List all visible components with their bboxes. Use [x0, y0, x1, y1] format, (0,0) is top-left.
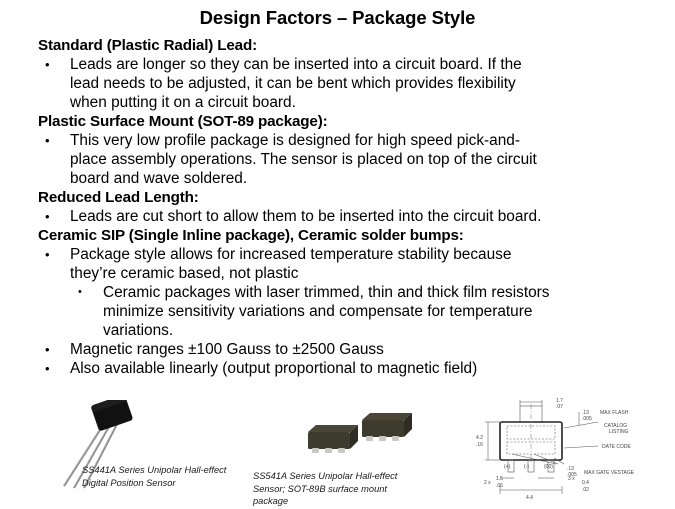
label-max-gate-vestage: MAX GATE VESTAGE: [584, 470, 635, 476]
bullet-marker-icon: •: [45, 340, 70, 359]
bullet-item: •Leads are cut short to allow them to be…: [0, 207, 675, 226]
pin-minus: (-): [524, 464, 529, 470]
dim-pitch-in: .06: [496, 483, 503, 489]
sub-bullet-text-continued: variations.: [0, 321, 675, 340]
bullet-text-continued: board and wave soldered.: [0, 169, 675, 188]
slide-body: Standard (Plastic Radial) Lead:•Leads ar…: [0, 36, 675, 378]
pin-out: (00): [544, 464, 553, 470]
page-title: Design Factors – Package Style: [0, 7, 675, 29]
dim-top-in: .07: [556, 404, 563, 410]
dim-left-in: .16: [476, 442, 483, 448]
vestage-in: .005: [567, 472, 577, 478]
section-heading: Ceramic SIP (Single Inline package), Cer…: [0, 226, 675, 245]
bullet-marker-icon: •: [45, 207, 70, 226]
sot89-package-dimension-drawing: 1.7 .07 4.2 .16 4.4 2 x 1.5 .06 3 x 0.4 …: [472, 398, 672, 504]
bullet-item: •Leads are longer so they can be inserte…: [0, 55, 675, 74]
flash-in: .005: [582, 416, 592, 422]
bullet-text: This very low profile package is designe…: [70, 131, 520, 150]
bullet-text-continued: they’re ceramic based, not plastic: [0, 264, 675, 283]
figure-strip: SS441A Series Unipolar Hall-effect Digit…: [0, 398, 675, 506]
dim-bottom-mm: 4.4: [526, 495, 533, 501]
bullet-text-continued: place assembly operations. The sensor is…: [0, 150, 675, 169]
to92-figure-caption: SS441A Series Unipolar Hall-effect Digit…: [82, 464, 232, 489]
dim-pitch-right-mm: 0.4: [582, 480, 589, 486]
sot89b-surface-mount-sensor-photo: [296, 410, 416, 466]
bullet-marker-icon: •: [45, 131, 70, 150]
label-listing: LISTING: [609, 429, 629, 435]
bullet-item: •Magnetic ranges ±100 Gauss to ±2500 Gau…: [0, 340, 675, 359]
label-date-code: DATE CODE: [602, 444, 631, 450]
dim-pitch-mm: 1.5: [496, 476, 503, 482]
bullet-text: Also available linearly (output proporti…: [70, 359, 477, 378]
sub-bullet-item: •Ceramic packages with laser trimmed, th…: [0, 283, 675, 302]
bullet-item: •Package style allows for increased temp…: [0, 245, 675, 264]
bullet-text: Leads are longer so they can be inserted…: [70, 55, 522, 74]
bullet-text: Ceramic packages with laser trimmed, thi…: [103, 284, 549, 301]
bullet-marker-icon: •: [45, 245, 70, 264]
bullet-marker-icon: •: [45, 359, 70, 378]
dim-pitch-left: 2 x: [484, 480, 491, 486]
bullet-item: •This very low profile package is design…: [0, 131, 675, 150]
bullet-marker-icon: •: [78, 283, 103, 302]
bullet-text-continued: when putting it on a circuit board.: [0, 93, 675, 112]
label-max-flash: MAX FLASH: [600, 410, 629, 416]
sub-bullet-text-continued: minimize sensitivity variations and comp…: [0, 302, 675, 321]
section-heading: Reduced Lead Length:: [0, 188, 675, 207]
bullet-text: Magnetic ranges ±100 Gauss to ±2500 Gaus…: [70, 340, 384, 359]
section-heading: Plastic Surface Mount (SOT-89 package):: [0, 112, 675, 131]
dim-pitch-right-in: .02: [582, 487, 589, 493]
dim-left-mm: 4.2: [476, 435, 483, 441]
sot89-figure-caption: SS541A Series Unipolar Hall-effect Senso…: [253, 470, 419, 508]
bullet-item: •Also available linearly (output proport…: [0, 359, 675, 378]
bullet-marker-icon: •: [45, 55, 70, 74]
bullet-text: Leads are cut short to allow them to be …: [70, 207, 541, 226]
pin-plus: (+): [504, 464, 511, 470]
bullet-text: Package style allows for increased tempe…: [70, 245, 511, 264]
section-heading: Standard (Plastic Radial) Lead:: [0, 36, 675, 55]
bullet-text-continued: lead needs to be adjusted, it can be ben…: [0, 74, 675, 93]
